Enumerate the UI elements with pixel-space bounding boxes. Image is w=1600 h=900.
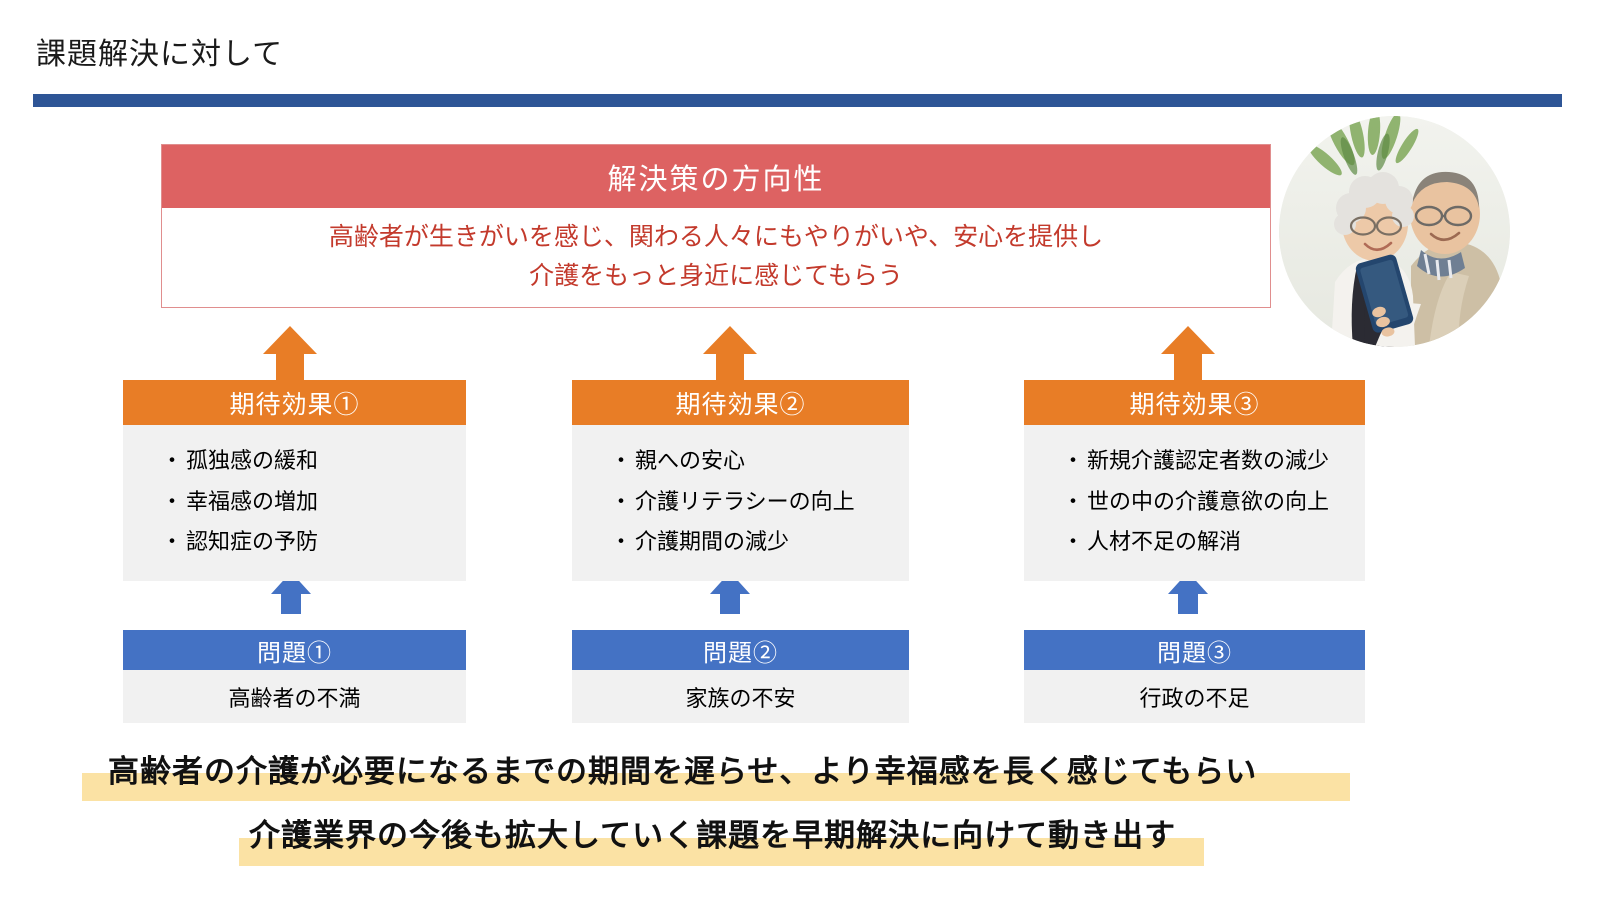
problem-body-2: 家族の不安 [572, 670, 909, 723]
conclusion-line-1: 高齢者の介護が必要になるまでの期間を遅らせ、より幸福感を長く感じてもらい [108, 746, 1257, 791]
list-item-label: 世の中の介護意欲の向上 [1087, 489, 1329, 514]
list-item: ・介護リテラシーの向上 [610, 482, 909, 523]
list-item: ・人材不足の解消 [1062, 522, 1365, 563]
bullet-mark: ・ [610, 529, 632, 554]
expected-effect-header-3: 期待効果③ [1024, 380, 1365, 425]
expected-effect-card-1: 期待効果① ・孤独感の緩和 ・幸福感の増加 ・認知症の予防 [123, 380, 466, 581]
bullet-mark: ・ [1062, 448, 1084, 473]
page-title: 課題解決に対して [36, 38, 283, 71]
expected-effect-body-1: ・孤独感の緩和 ・幸福感の増加 ・認知症の予防 [123, 425, 466, 581]
bullet-mark: ・ [161, 489, 183, 514]
list-item-label: 親への安心 [635, 448, 745, 473]
expected-effect-body-2: ・親への安心 ・介護リテラシーの向上 ・介護期間の減少 [572, 425, 909, 581]
list-item-label: 介護期間の減少 [635, 529, 789, 554]
bullet-mark: ・ [161, 529, 183, 554]
arrow-up-effect-2 [702, 324, 758, 385]
expected-effect-card-2: 期待効果② ・親への安心 ・介護リテラシーの向上 ・介護期間の減少 [572, 380, 909, 581]
solution-panel-body: 高齢者が生きがいを感じ、関わる人々にもやりがいや、安心を提供し 介護をもっと身近… [162, 208, 1270, 307]
problem-header-1: 問題① [123, 630, 466, 670]
problem-header-3: 問題③ [1024, 630, 1365, 670]
expected-effect-header-2: 期待効果② [572, 380, 909, 425]
list-item-label: 人材不足の解消 [1087, 529, 1241, 554]
list-item: ・親への安心 [610, 441, 909, 482]
problem-body-3: 行政の不足 [1024, 670, 1365, 723]
list-item-label: 孤独感の緩和 [186, 448, 318, 473]
list-item: ・幸福感の増加 [161, 482, 466, 523]
list-item: ・認知症の予防 [161, 522, 466, 563]
bullet-mark: ・ [1062, 529, 1084, 554]
list-item-label: 介護リテラシーの向上 [635, 489, 855, 514]
problem-body-1: 高齢者の不満 [123, 670, 466, 723]
problem-card-3: 問題③ 行政の不足 [1024, 630, 1365, 723]
solution-line-2: 介護をもっと身近に感じてもらう [529, 258, 903, 297]
solution-panel-header: 解決策の方向性 [162, 145, 1270, 208]
problem-card-2: 問題② 家族の不安 [572, 630, 909, 723]
arrow-up-effect-3 [1160, 324, 1216, 385]
expected-effect-body-3: ・新規介護認定者数の減少 ・世の中の介護意欲の向上 ・人材不足の解消 [1024, 425, 1365, 581]
list-item-label: 認知症の予防 [186, 529, 318, 554]
bullet-mark: ・ [610, 448, 632, 473]
bullet-mark: ・ [161, 448, 183, 473]
bullet-mark: ・ [1062, 489, 1084, 514]
conclusion-line-2: 介護業界の今後も拡大していく課題を早期解決に向けて動き出す [249, 810, 1176, 855]
list-item: ・孤独感の緩和 [161, 441, 466, 482]
list-item: ・世の中の介護意欲の向上 [1062, 482, 1365, 523]
problem-header-2: 問題② [572, 630, 909, 670]
list-item-label: 幸福感の増加 [186, 489, 318, 514]
list-item: ・新規介護認定者数の減少 [1062, 441, 1365, 482]
title-underline-bar [33, 94, 1562, 107]
elderly-couple-photo [1279, 116, 1510, 347]
bullet-mark: ・ [610, 489, 632, 514]
arrow-up-effect-1 [262, 324, 318, 385]
problem-card-1: 問題① 高齢者の不満 [123, 630, 466, 723]
expected-effect-card-3: 期待効果③ ・新規介護認定者数の減少 ・世の中の介護意欲の向上 ・人材不足の解消 [1024, 380, 1365, 581]
solution-direction-panel: 解決策の方向性 高齢者が生きがいを感じ、関わる人々にもやりがいや、安心を提供し … [161, 144, 1271, 308]
solution-line-1: 高齢者が生きがいを感じ、関わる人々にもやりがいや、安心を提供し [329, 219, 1103, 258]
photo-illustration [1279, 116, 1510, 347]
list-item-label: 新規介護認定者数の減少 [1087, 448, 1329, 473]
list-item: ・介護期間の減少 [610, 522, 909, 563]
expected-effect-header-1: 期待効果① [123, 380, 466, 425]
